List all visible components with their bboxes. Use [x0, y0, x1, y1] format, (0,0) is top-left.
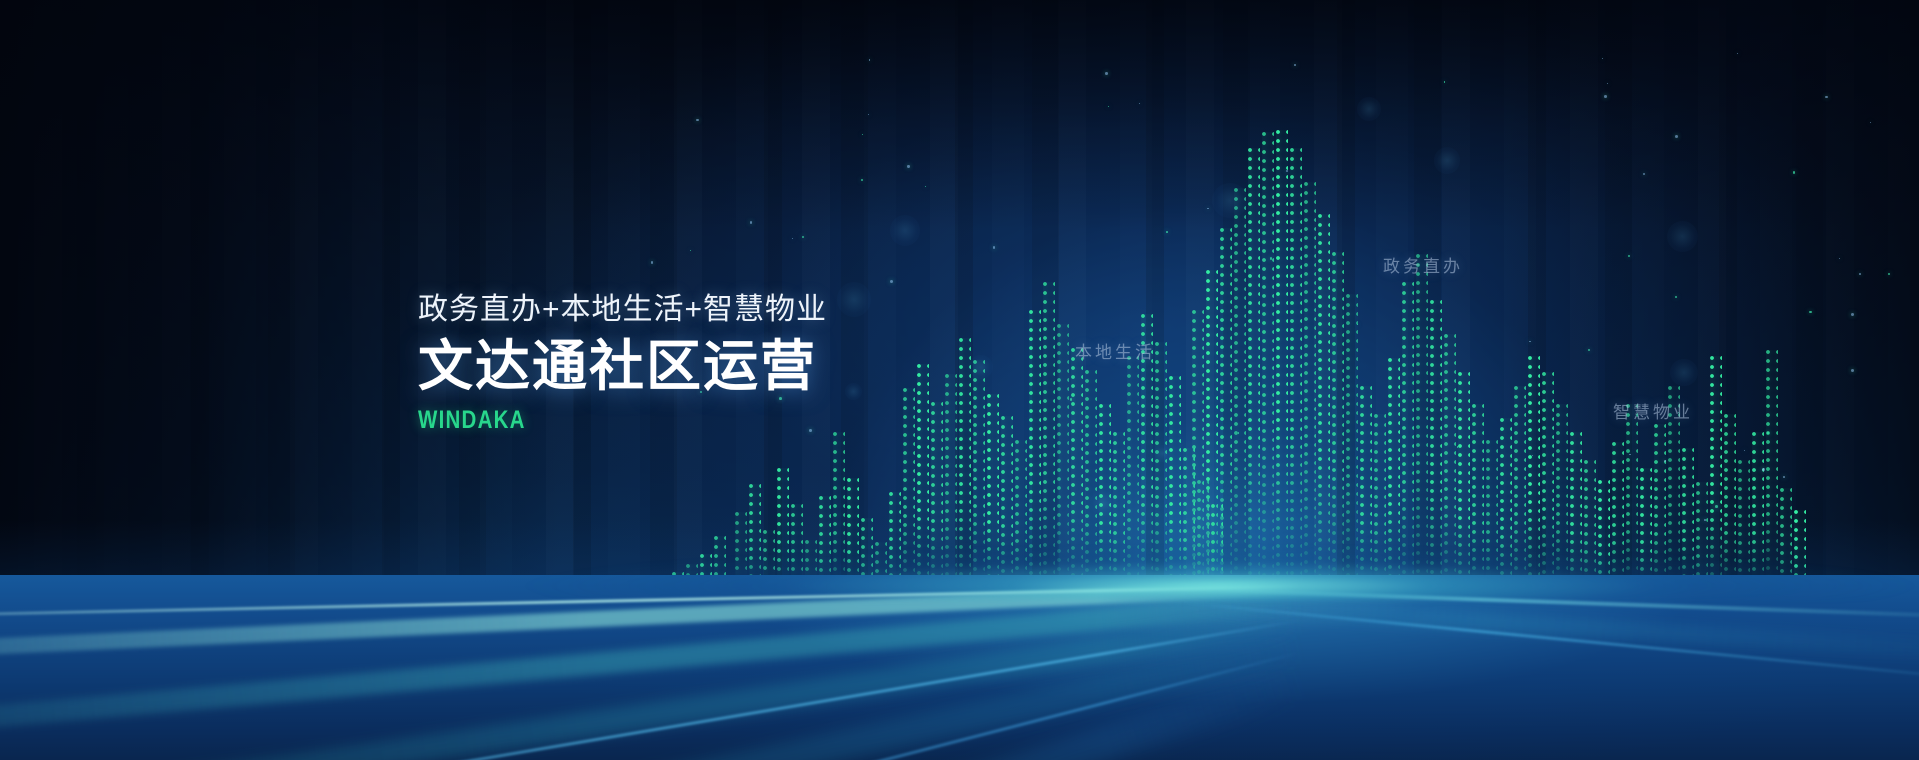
bokeh-particle — [1675, 296, 1677, 298]
skyline-bar — [1234, 188, 1246, 600]
bokeh-particle — [1664, 460, 1666, 462]
hero-copy: 政务直办+本地生活+智慧物业 文达通社区运营 WINDAKA — [418, 292, 827, 435]
ground-streak — [0, 609, 1302, 760]
bokeh-particle — [1090, 490, 1116, 516]
ground-streak — [0, 619, 1300, 760]
hero-headline: 文达通社区运营 — [418, 336, 827, 398]
bokeh-particle — [1851, 369, 1854, 372]
hero-tagline: 政务直办+本地生活+智慧物业 — [418, 292, 827, 328]
bokeh-particle — [1357, 324, 1358, 325]
brand-wordmark: WINDAKA — [418, 406, 753, 435]
bokeh-particle — [907, 165, 909, 167]
horizon-glow — [0, 540, 1919, 600]
bokeh-particle — [696, 119, 698, 121]
bokeh-particle — [1888, 273, 1890, 275]
skyline-bar — [1304, 182, 1316, 600]
bokeh-particle — [1825, 96, 1827, 98]
bokeh-particle — [1870, 122, 1871, 123]
bokeh-particle — [1839, 258, 1840, 259]
bokeh-particle — [837, 282, 872, 317]
bokeh-particle — [1212, 183, 1247, 218]
bokeh-particle — [1704, 519, 1706, 521]
skyline-bar — [1262, 132, 1274, 600]
bokeh-particle — [1670, 359, 1697, 386]
hero-banner: 政务直办本地生活智慧物业 政务直办+本地生活+智慧物业 文达通社区运营 WIND… — [0, 0, 1919, 760]
bokeh-particle — [1643, 173, 1645, 175]
bokeh-particle — [1294, 64, 1296, 66]
ground-streak — [0, 591, 1301, 760]
bokeh-particle — [1809, 311, 1811, 313]
bokeh-particle — [1434, 147, 1460, 173]
bokeh-particle — [1783, 476, 1785, 478]
bokeh-particle — [890, 215, 920, 245]
bokeh-particle — [1070, 398, 1072, 400]
ground-streak — [1180, 601, 1919, 686]
bokeh-particle — [1767, 432, 1768, 433]
bokeh-particle — [1529, 341, 1531, 343]
skyline-bar — [1276, 130, 1288, 600]
ground-streak — [0, 633, 1303, 760]
floating-label: 政务直办 — [1383, 252, 1463, 277]
skyline-bar — [1290, 148, 1302, 600]
skyline-bar — [1248, 148, 1260, 600]
bokeh-particle — [1604, 95, 1607, 98]
ground-streak — [1179, 595, 1919, 664]
bokeh-particle — [1793, 171, 1795, 173]
perspective-ground — [0, 575, 1919, 760]
ground-streak — [0, 651, 1300, 760]
floating-label: 本地生活 — [1075, 338, 1155, 363]
ground-streak — [0, 666, 1305, 760]
bokeh-particle — [651, 261, 653, 263]
floating-label: 智慧物业 — [1613, 398, 1693, 423]
bokeh-particle — [1270, 257, 1272, 259]
bokeh-particle — [1166, 231, 1168, 233]
bokeh-particle — [750, 221, 752, 223]
bokeh-particle — [1532, 455, 1533, 456]
